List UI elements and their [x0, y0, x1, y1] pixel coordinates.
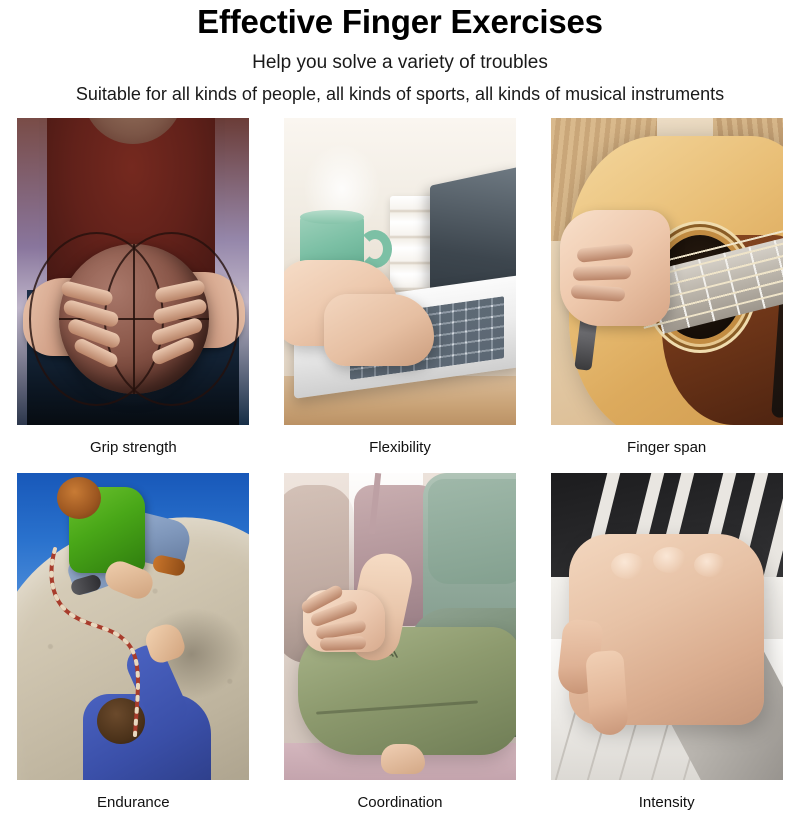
grid-cell-endurance: Endurance — [0, 473, 267, 818]
subtitle-primary: Help you solve a variety of troubles — [0, 50, 800, 76]
subtitle-secondary: Suitable for all kinds of people, all ki… — [0, 82, 800, 107]
image-laptop-typing — [284, 118, 516, 425]
caption-endurance: Endurance — [97, 793, 170, 813]
header: Effective Finger Exercises Help you solv… — [0, 0, 800, 107]
climbing-rope — [17, 473, 249, 780]
caption-flexibility: Flexibility — [369, 438, 431, 458]
caption-grip-strength: Grip strength — [90, 438, 177, 458]
product-infographic-page: Effective Finger Exercises Help you solv… — [0, 0, 800, 818]
grid-cell-intensity: Intensity — [533, 473, 800, 818]
caption-finger-span: Finger span — [627, 438, 706, 458]
grid-cell-grip-strength: Grip strength — [0, 118, 267, 473]
grid-cell-flexibility: Flexibility — [267, 118, 534, 473]
grid-cell-coordination: Coordination — [267, 473, 534, 818]
image-guitar-fingers — [551, 118, 783, 425]
page-title: Effective Finger Exercises — [0, 2, 800, 42]
image-piano-hand — [551, 473, 783, 780]
feature-grid: Grip strength Flexibility — [0, 118, 800, 818]
grid-cell-finger-span: Finger span — [533, 118, 800, 473]
caption-intensity: Intensity — [639, 793, 695, 813]
image-rock-climbing — [17, 473, 249, 780]
image-basketball-grip — [17, 118, 249, 425]
caption-coordination: Coordination — [357, 793, 442, 813]
image-yoga-coordination — [284, 473, 516, 780]
